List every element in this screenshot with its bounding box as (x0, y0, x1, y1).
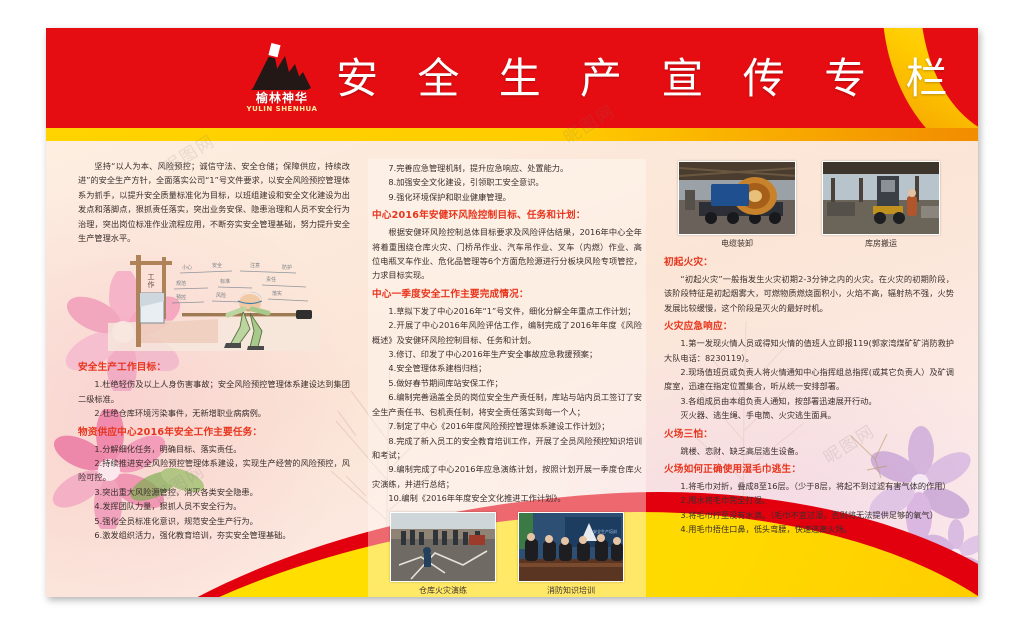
task-item: 6.激发组织活力，强化教育培训，夯实安全管理基础。 (78, 528, 350, 542)
coal-mountain-icon (241, 42, 323, 90)
task-item: 2.持续推进安全风险预控管理体系建设，实现生产经营的风险预控，风险可控。 (78, 456, 350, 485)
task-item: 4.发挥团队力量，狠抓人员不安全行为。 (78, 499, 350, 513)
photo-cell: 电缆装卸 (678, 161, 796, 251)
quarter-item: 7.制定了中心《2016年度风险预控管理体系建设工作计划》； (372, 419, 642, 433)
task-item: 1.分解细化任务，明确目标、落实责任。 (78, 442, 350, 456)
tasks-heading: 物资供应中心2016年安全工作主要任务： (78, 424, 350, 441)
plan-paragraph: 根据安健环风险控制总体目标要求及风险评估结果，2016年中心全年将着重围绕仓库火… (372, 225, 642, 283)
content-area: 坚持“以人为本、风险预控；诚信守法、安全仓储；保障供应，持续改进”的安全生产方针… (46, 141, 978, 597)
response-item: 2.现场值班员或负责人将火情通知中心指挥组总指挥(或其它负责人）及矿调度室，迅速… (664, 365, 954, 394)
svg-text:标准: 标准 (220, 278, 230, 285)
safety-cartoon-illustration: 工 作 小心安全 注意防护 规范标准 (100, 247, 328, 355)
task-item: 9.强化环境保护和职业健康管理。 (372, 190, 642, 204)
svg-text:防护: 防护 (282, 264, 292, 271)
svg-text:落实: 落实 (272, 290, 282, 297)
logo-chinese-name: 榆林神华 (241, 91, 323, 105)
svg-text:安全生产培训: 安全生产培训 (593, 528, 617, 534)
towel-heading: 火场如何正确使用湿毛巾逃生： (664, 461, 954, 478)
cable-loading-photo-graphic (679, 162, 796, 235)
svg-text:风险: 风险 (216, 292, 226, 299)
photo-caption: 仓库火灾演练 (390, 584, 496, 597)
quarter-item: 9.编制完成了中心2016年应急演练计划，按照计划开展一季度仓库火灾演练，并进行… (372, 462, 642, 491)
photo-caption: 消防知识培训 (518, 584, 624, 597)
quarter-item: 6.编制完善涵盖全员的岗位安全生产责任制，库站与站内员工签订了安全生产责任书、包… (372, 390, 642, 419)
quarter-item: 4.安全管理体系建档归档； (372, 361, 642, 375)
svg-text:小心: 小心 (182, 264, 192, 271)
plan-heading: 中心2016年安健环风险控制目标、任务和计划： (372, 207, 642, 224)
warehouse-handling-photo (822, 161, 940, 235)
towel-item: 3.将毛巾拧至没有水滴。（毛巾不宜过湿，否则将无法提供足够的氧气） (664, 508, 954, 522)
three-fears-body: 跳楼、恋财、缺乏高层逃生设备。 (664, 444, 954, 458)
worker-cartoon-icon: 工 作 小心安全 注意防护 规范标准 (100, 247, 328, 355)
early-fire-paragraph: “初起火灾”一般指发生火灾初期2-3分钟之内的火灾。在火灾的初期阶段，该阶段特征… (664, 272, 954, 315)
goal-item: 2.杜绝仓库环境污染事件，无新增职业病病例。 (78, 406, 350, 420)
poster-root: 榆林神华 YULIN SHENHUA 安 全 生 产 宣 传 专 栏 (0, 0, 1024, 625)
task-item: 8.加强安全文化建设，引领职工安全意识。 (372, 175, 642, 189)
photo-cell: 安全生产培训 (518, 512, 624, 597)
response-item: 3.各组成员由本组负责人通知，按部署迅速展开行动。 (664, 394, 954, 408)
towel-item: 4.用毛巾捂住口鼻，低头弯腰，快速逃离火场。 (664, 522, 954, 536)
fire-drill-photo (390, 512, 496, 582)
fire-training-photo: 安全生产培训 (518, 512, 624, 582)
towel-item: 2.用水将毛巾完全打湿。 (664, 493, 954, 507)
company-logo: 榆林神华 YULIN SHENHUA (241, 42, 323, 120)
early-fire-heading: 初起火灾： (664, 254, 954, 271)
fire-drill-photo-graphic (391, 513, 496, 582)
poster-board: 榆林神华 YULIN SHENHUA 安 全 生 产 宣 传 专 栏 (46, 28, 978, 597)
svg-text:预控: 预控 (176, 294, 186, 301)
quarter-item: 3.修订、印发了中心2016年生产安全事故应急救援预案； (372, 347, 642, 361)
svg-text:规范: 规范 (176, 280, 186, 287)
middle-photo-row: 仓库火灾演练 安全生产培训 (372, 512, 642, 597)
quarter-item: 2.开展了中心2016年风险评估工作，编制完成了2016年年度《风险概述》及安健… (372, 318, 642, 347)
logo-english-name: YULIN SHENHUA (241, 105, 323, 114)
fire-training-photo-graphic: 安全生产培训 (519, 513, 624, 582)
quarter-item: 10.编制《2016年年度安全文化推进工作计划》。 (372, 491, 642, 505)
response-equipment: 灭火器、逃生绳、手电筒、火灾逃生面具。 (664, 408, 954, 422)
svg-text:注意: 注意 (250, 262, 260, 269)
goal-item: 1.杜绝轻伤及以上人身伤害事故；安全风险预控管理体系建设达到集团二级标准。 (78, 377, 350, 406)
cable-loading-photo (678, 161, 796, 235)
svg-text:作: 作 (148, 280, 155, 289)
photo-caption: 电缆装卸 (678, 237, 796, 251)
quarter-item: 1.草拟下发了中心2016年“1”号文件，细化分解全年重点工作计划； (372, 304, 642, 318)
photo-cell: 仓库火灾演练 (390, 512, 496, 597)
three-fears-heading: 火场三怕： (664, 426, 954, 443)
svg-text:工: 工 (148, 273, 155, 281)
task-item: 3.突出重大风险源管控，消灭各类安全隐患。 (78, 485, 350, 499)
page-title: 安 全 生 产 宣 传 专 栏 (336, 54, 960, 104)
task-item: 5.强化全员标准化意识，规范安全生产行为。 (78, 514, 350, 528)
photo-cell: 库房搬运 (822, 161, 940, 251)
warehouse-handling-photo-graphic (823, 162, 940, 235)
left-column: 坚持“以人为本、风险预控；诚信守法、安全仓储；保障供应，持续改进”的安全生产方针… (78, 159, 350, 543)
quarter-heading: 中心一季度安全工作主要完成情况： (372, 286, 642, 303)
middle-column: 7.完善应急管理机制，提升应急响应、处置能力。 8.加强安全文化建设，引领职工安… (368, 159, 646, 597)
header-underbar (46, 128, 978, 141)
right-column: 电缆装卸 (664, 159, 954, 537)
response-heading: 火灾应急响应： (664, 318, 954, 335)
quarter-item: 5.做好春节期间库站安保工作； (372, 376, 642, 390)
right-photo-row: 电缆装卸 (664, 161, 954, 251)
towel-item: 1.将毛巾对折，叠成8至16层。（少于8层，将起不到过滤有害气体的作用） (664, 479, 954, 493)
response-item: 1.第一发现火情人员或得知火情的值班人立即报119(郭家湾煤矿矿消防救护大队电话… (664, 336, 954, 365)
intro-paragraph: 坚持“以人为本、风险预控；诚信守法、安全仓储；保障供应，持续改进”的安全生产方针… (78, 159, 350, 245)
quarter-item: 8.完成了新入员工的安全教育培训工作，开展了全员风险预控知识培训和考试； (372, 434, 642, 463)
svg-text:安全: 安全 (212, 262, 222, 269)
svg-text:责任: 责任 (266, 276, 276, 283)
goals-heading: 安全生产工作目标： (78, 359, 350, 376)
photo-caption: 库房搬运 (822, 237, 940, 251)
task-item: 7.完善应急管理机制，提升应急响应、处置能力。 (372, 161, 642, 175)
